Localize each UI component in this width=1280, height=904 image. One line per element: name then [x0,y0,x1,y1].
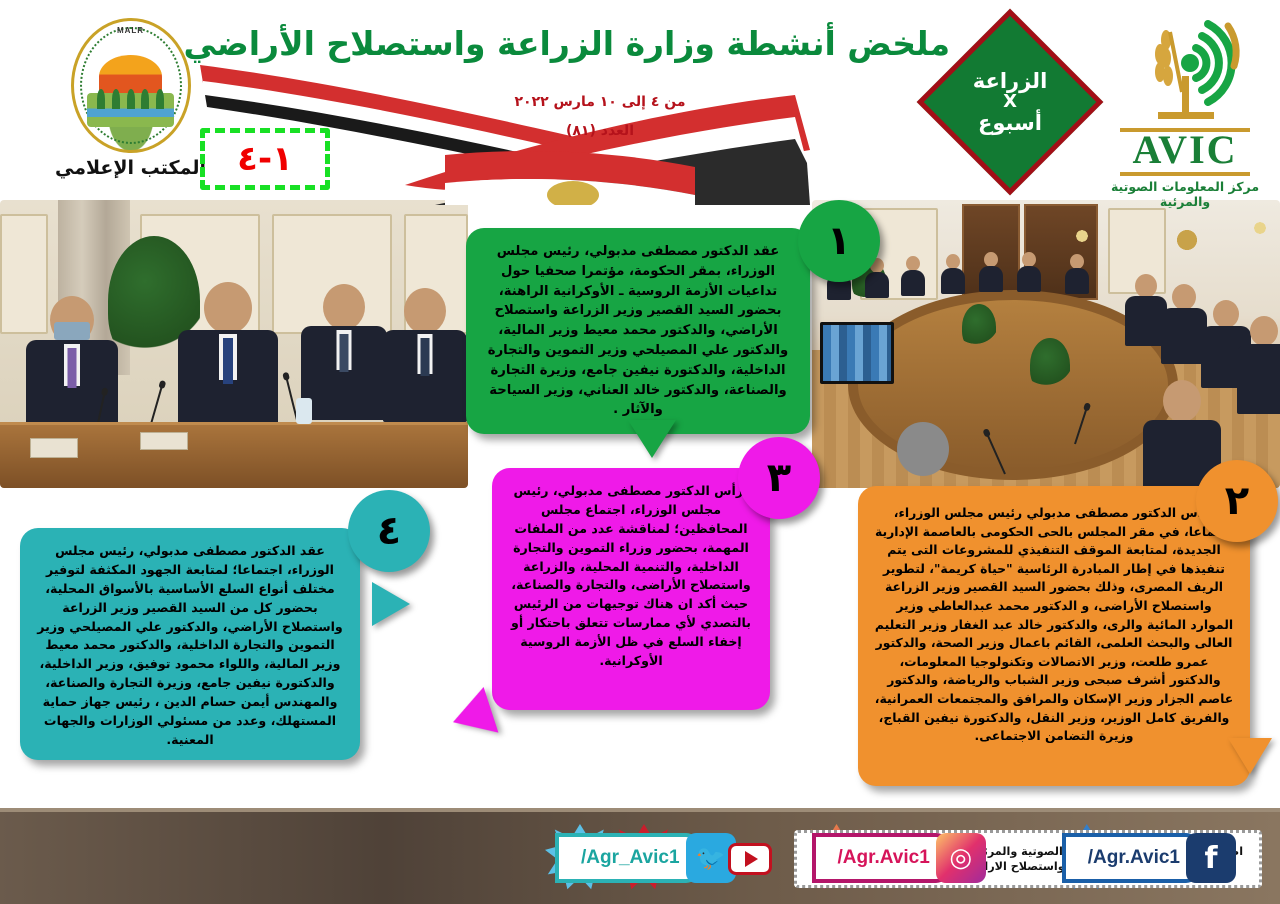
card-number-badge-3: ٣ [738,437,820,519]
news-card-1: عقد الدكتور مصطفى مدبولي، رئيس مجلس الوز… [466,228,810,434]
malr-seal-icon: MALR [71,18,191,153]
card-number-badge-1: ١ [798,200,880,282]
agriculture-week-diamond: الزراعة X أسبوع [930,22,1090,187]
twitter-handle[interactable]: /Agr_Avic1 [559,837,696,879]
card-number-badge-2: ٢ [1196,460,1278,542]
diamond-line-2: X [1003,92,1017,111]
arrow-left-icon-magenta [446,687,499,745]
avic-broadcast-icon [1110,18,1260,126]
diamond-line-3: أسبوع [978,112,1042,135]
card-number-badge-4: ٤ [348,490,430,572]
news-card-2: ترأس الدكتور مصطفى مدبولي رئيس مجلس الوز… [858,486,1250,786]
header: MALR المكتب الإعلامي ملخض أنشطة وزارة ال… [0,0,1280,200]
instagram-icon[interactable]: ◎ [936,833,986,883]
seal-plants-icon [94,75,167,109]
facebook-handle[interactable]: /Agr.Avic1 [1066,837,1196,879]
arrow-down-icon-orange [1228,738,1272,774]
photo-press-conference [0,200,468,488]
date-range: من ٤ إلى ١٠ مارس ٢٠٢٢ [430,94,770,110]
social-link-twitter[interactable]: 🐦 /Agr_Avic1 [559,832,736,884]
diamond-line-1: الزراعة [973,70,1048,93]
social-link-facebook[interactable]: f /Agr.Avic1 [1066,832,1236,884]
news-card-3: ترأس الدكتور مصطفى مدبولي، رئيس مجلس الو… [492,468,770,710]
news-card-4: عقد الدكتور مصطفى مدبولي، رئيس مجلس الوز… [20,528,360,760]
youtube-icon[interactable] [722,836,778,882]
avic-logo-block: AVIC مركز المعلومات الصوتية والمرئية [1100,18,1270,209]
diamond-label: الزراعة X أسبوع [930,22,1090,182]
issue-number: العدد (٨١) [430,123,770,139]
seal-top-text: MALR [74,26,188,35]
page-indicator-label: ١-٤ [237,139,293,179]
social-link-instagram[interactable]: ◎ /Agr.Avic1 [816,832,986,884]
photo-cabinet-meeting [812,200,1280,488]
avic-wordmark: AVIC [1100,130,1270,170]
facebook-icon[interactable]: f [1186,833,1236,883]
arrow-down-icon-green [628,420,676,458]
page-title: ملخض أنشطة وزارة الزراعة واستصلاح الأراض… [250,24,950,63]
footer-bar: f /Agr.Avic1 ◎ /Agr.Avic1 🐦 /Agr_Avic1 م… [0,808,1280,904]
infographic-page: MALR المكتب الإعلامي ملخض أنشطة وزارة ال… [0,0,1280,904]
media-office-label: المكتب الإعلامي [48,157,213,179]
arrow-right-icon-teal [372,582,410,626]
page-indicator: ١-٤ [200,128,330,190]
instagram-handle[interactable]: /Agr.Avic1 [816,837,946,879]
avic-bottom-rule [1120,172,1250,176]
avic-subtitle: مركز المعلومات الصوتية والمرئية [1100,179,1270,209]
